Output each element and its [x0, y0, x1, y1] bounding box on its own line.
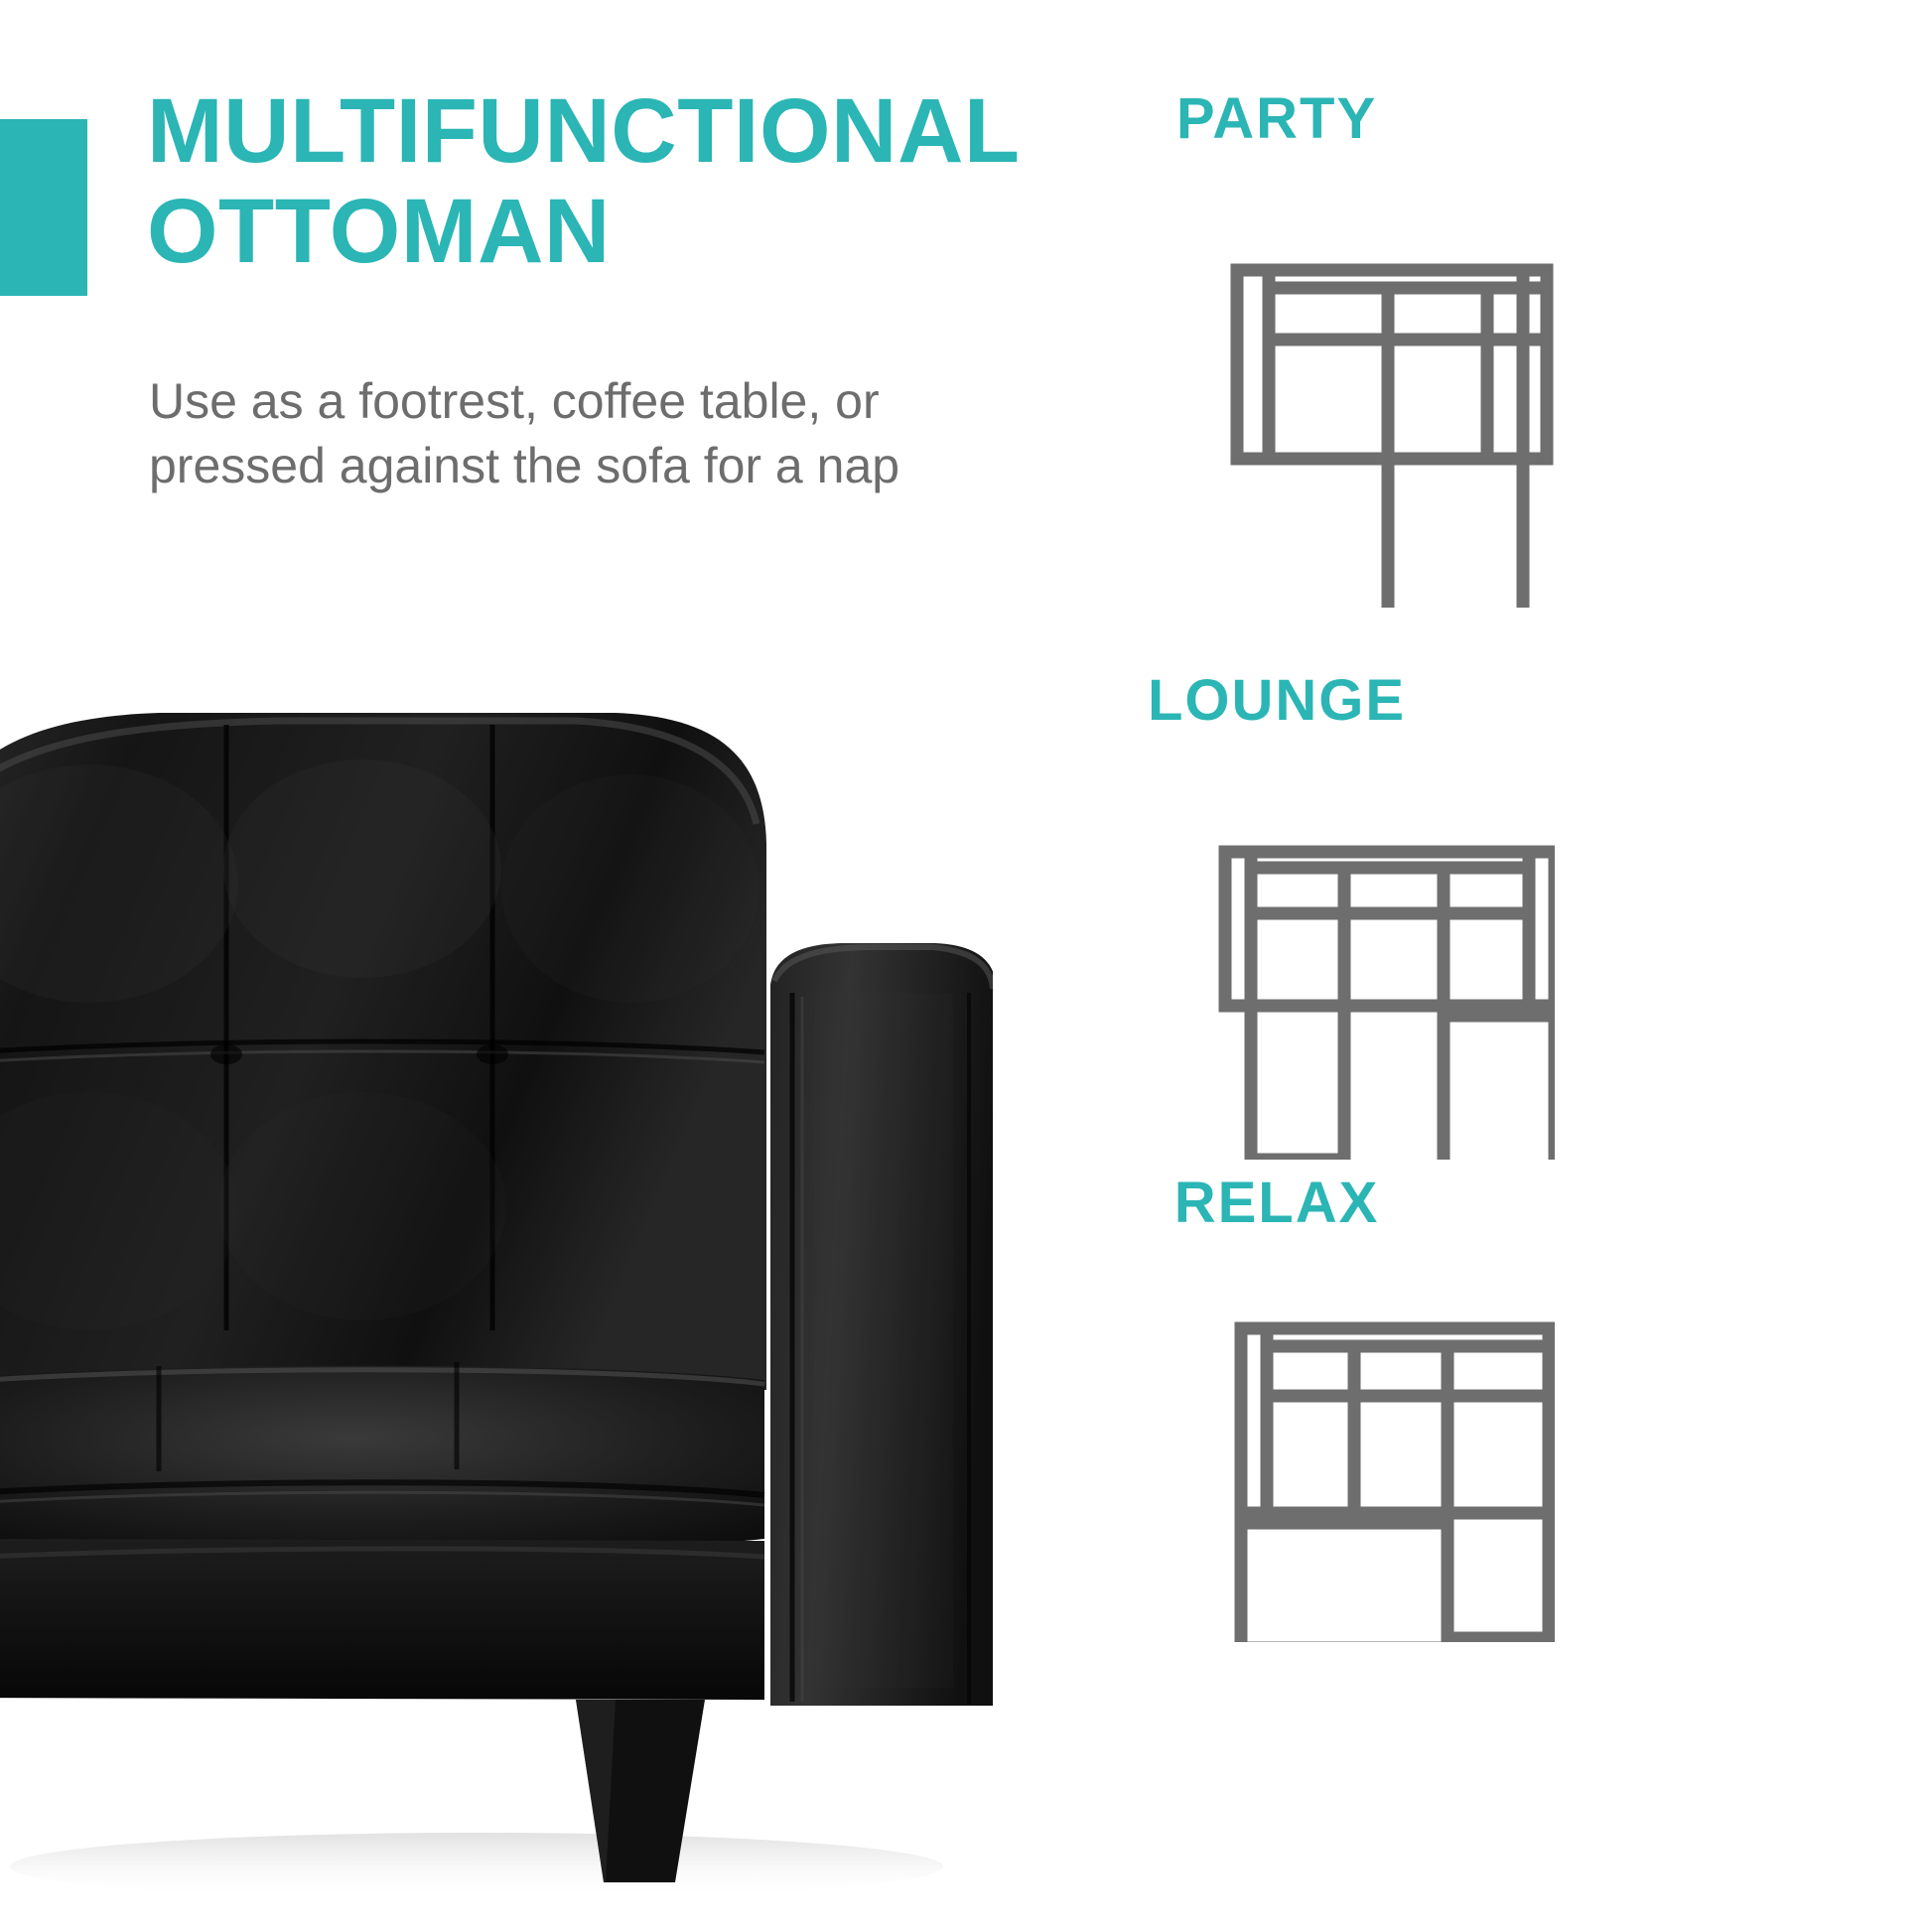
page-subtitle-line-2: pressed against the sofa for a nap [149, 434, 1072, 498]
config-party-diagram [999, 161, 1555, 608]
config-lounge: LOUNGE [999, 667, 1555, 1164]
product-photo [0, 695, 993, 1932]
accent-bar [0, 119, 87, 296]
page-title-line-1: MULTIFUNCTIONAL [147, 80, 1021, 182]
page-title: MULTIFUNCTIONAL OTTOMAN [147, 81, 1140, 282]
sofa-seat-cushion [0, 1362, 764, 1555]
config-lounge-diagram [999, 743, 1555, 1160]
sofa-illustration [0, 695, 993, 1932]
page-subtitle: Use as a footrest, coffee table, or pres… [149, 369, 1072, 498]
config-lounge-label: LOUNGE [999, 667, 1555, 734]
config-party: PARTY [999, 85, 1555, 621]
page-title-line-2: OTTOMAN [147, 182, 1140, 282]
page-subtitle-line-1: Use as a footrest, coffee table, or [149, 373, 880, 429]
sofa-base [0, 1539, 764, 1700]
floor-shadow [10, 1833, 943, 1900]
infographic-page: MULTIFUNCTIONAL OTTOMAN Use as a footres… [0, 0, 1932, 1932]
config-relax-diagram [999, 1245, 1555, 1642]
config-party-label: PARTY [999, 85, 1555, 152]
sofa-arm [770, 943, 993, 1706]
config-relax: RELAX [999, 1170, 1555, 1636]
sofa-backrest [0, 713, 766, 1390]
config-relax-label: RELAX [999, 1170, 1555, 1236]
